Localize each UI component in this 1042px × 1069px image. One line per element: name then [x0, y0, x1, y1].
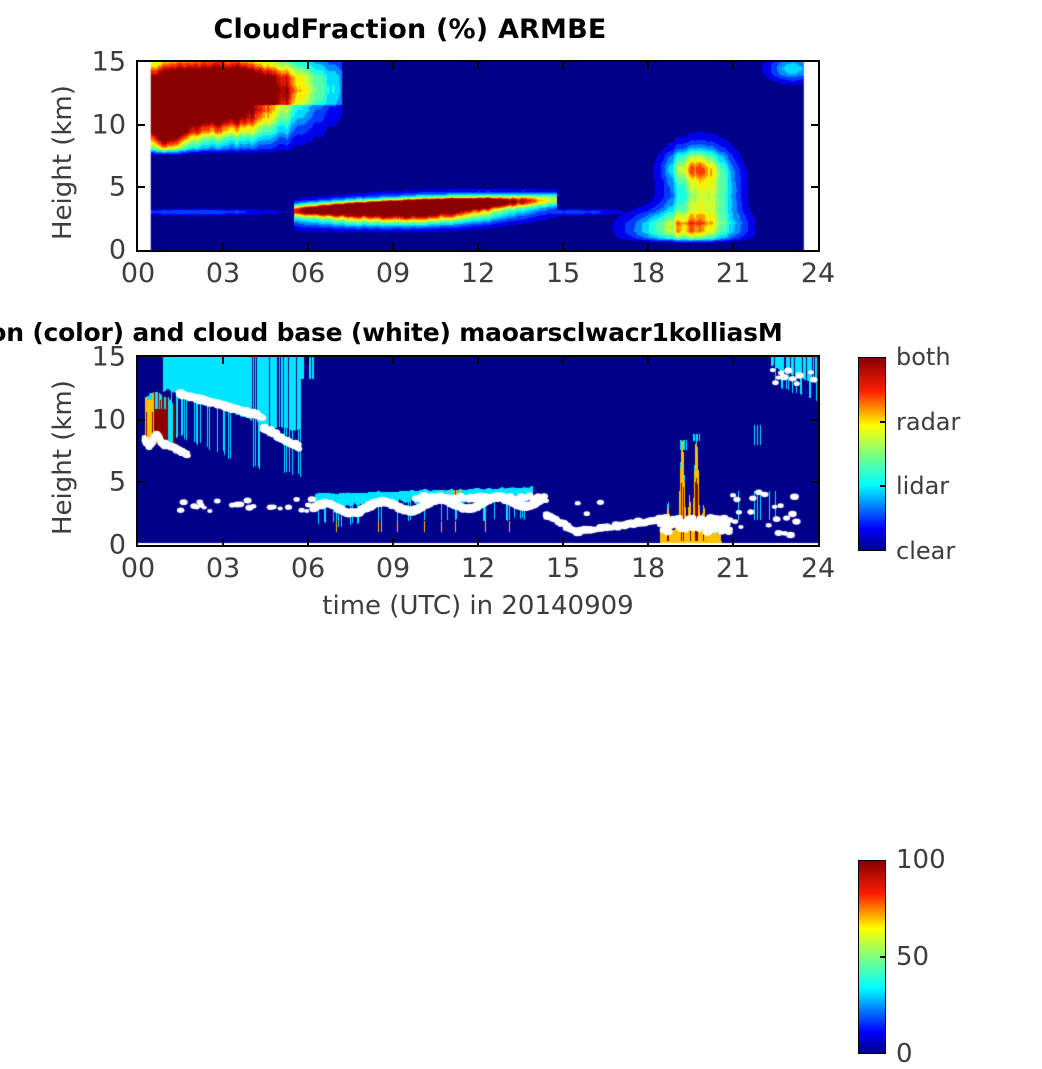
- x-tick-mark: [732, 538, 734, 545]
- bottom-panel-xlabel: time (UTC) in 20140909: [322, 591, 633, 621]
- colorbar-label: clear: [896, 537, 955, 565]
- y-tick-mark: [138, 186, 145, 188]
- x-tick-label: 21: [716, 258, 750, 289]
- cloud-fraction-heatmap: [138, 62, 818, 250]
- colorbar-label: lidar: [896, 472, 949, 500]
- x-tick-label: 18: [631, 553, 665, 584]
- x-tick-mark: [392, 243, 394, 250]
- x-tick-label: 09: [376, 553, 410, 584]
- cloud-detection-colorbar: [858, 357, 886, 551]
- top-panel-axes: [136, 60, 820, 252]
- x-tick-mark: [647, 243, 649, 250]
- x-tick-mark: [392, 357, 394, 364]
- x-tick-mark: [562, 62, 564, 69]
- y-tick-label: 0: [72, 530, 126, 561]
- x-tick-mark: [222, 243, 224, 250]
- cloud-detection-heatmap: [138, 357, 818, 545]
- y-tick-label: 15: [72, 47, 126, 78]
- x-tick-mark: [562, 538, 564, 545]
- colorbar-label: 100: [896, 845, 946, 875]
- x-tick-mark: [222, 538, 224, 545]
- x-tick-mark: [392, 538, 394, 545]
- y-tick-mark: [811, 186, 818, 188]
- colorbar-tick-mark: [880, 956, 886, 958]
- x-tick-mark: [562, 243, 564, 250]
- x-tick-mark: [732, 357, 734, 364]
- y-tick-mark: [138, 481, 145, 483]
- colorbar-label: 0: [896, 1039, 913, 1069]
- x-tick-mark: [392, 62, 394, 69]
- x-tick-label: 09: [376, 258, 410, 289]
- x-tick-mark: [732, 62, 734, 69]
- x-tick-mark: [477, 243, 479, 250]
- y-tick-label: 0: [72, 235, 126, 266]
- y-tick-mark: [811, 124, 818, 126]
- x-tick-mark: [647, 62, 649, 69]
- x-tick-label: 15: [546, 553, 580, 584]
- x-tick-mark: [307, 357, 309, 364]
- x-tick-label: 24: [801, 553, 835, 584]
- x-tick-label: 21: [716, 553, 750, 584]
- x-tick-mark: [222, 357, 224, 364]
- x-tick-label: 15: [546, 258, 580, 289]
- bottom-panel-ylabel: Height (km): [48, 380, 78, 535]
- colorbar-label: both: [896, 343, 951, 371]
- colorbar-label: 50: [896, 942, 929, 972]
- x-tick-label: 00: [121, 258, 155, 289]
- colorbar-label: radar: [896, 408, 960, 436]
- x-tick-label: 03: [206, 553, 240, 584]
- bottom-panel-axes: [136, 355, 820, 547]
- x-tick-mark: [562, 357, 564, 364]
- y-tick-mark: [138, 124, 145, 126]
- x-tick-mark: [307, 538, 309, 545]
- x-tick-label: 12: [461, 553, 495, 584]
- x-tick-mark: [647, 538, 649, 545]
- y-tick-label: 10: [72, 404, 126, 435]
- top-panel-title: CloudFraction (%) ARMBE: [0, 14, 820, 45]
- colorbar-tick-mark: [880, 421, 886, 423]
- x-tick-label: 06: [291, 258, 325, 289]
- colorbar-tick-mark: [880, 485, 886, 487]
- y-tick-mark: [811, 419, 818, 421]
- y-tick-mark: [811, 481, 818, 483]
- x-tick-label: 24: [801, 258, 835, 289]
- x-tick-label: 06: [291, 553, 325, 584]
- x-tick-mark: [307, 243, 309, 250]
- x-tick-mark: [477, 62, 479, 69]
- x-tick-label: 03: [206, 258, 240, 289]
- x-tick-mark: [477, 357, 479, 364]
- x-tick-mark: [222, 62, 224, 69]
- x-tick-label: 18: [631, 258, 665, 289]
- x-tick-mark: [647, 357, 649, 364]
- top-panel-ylabel: Height (km): [48, 85, 78, 240]
- figure-root: CloudFraction (%) ARMBE 0510150003060912…: [0, 0, 1042, 625]
- x-tick-label: 00: [121, 553, 155, 584]
- y-tick-label: 5: [72, 172, 126, 203]
- y-tick-label: 5: [72, 467, 126, 498]
- x-tick-mark: [732, 243, 734, 250]
- y-tick-label: 15: [72, 342, 126, 373]
- y-tick-mark: [138, 419, 145, 421]
- x-tick-mark: [477, 538, 479, 545]
- x-tick-mark: [307, 62, 309, 69]
- x-tick-label: 12: [461, 258, 495, 289]
- y-tick-label: 10: [72, 109, 126, 140]
